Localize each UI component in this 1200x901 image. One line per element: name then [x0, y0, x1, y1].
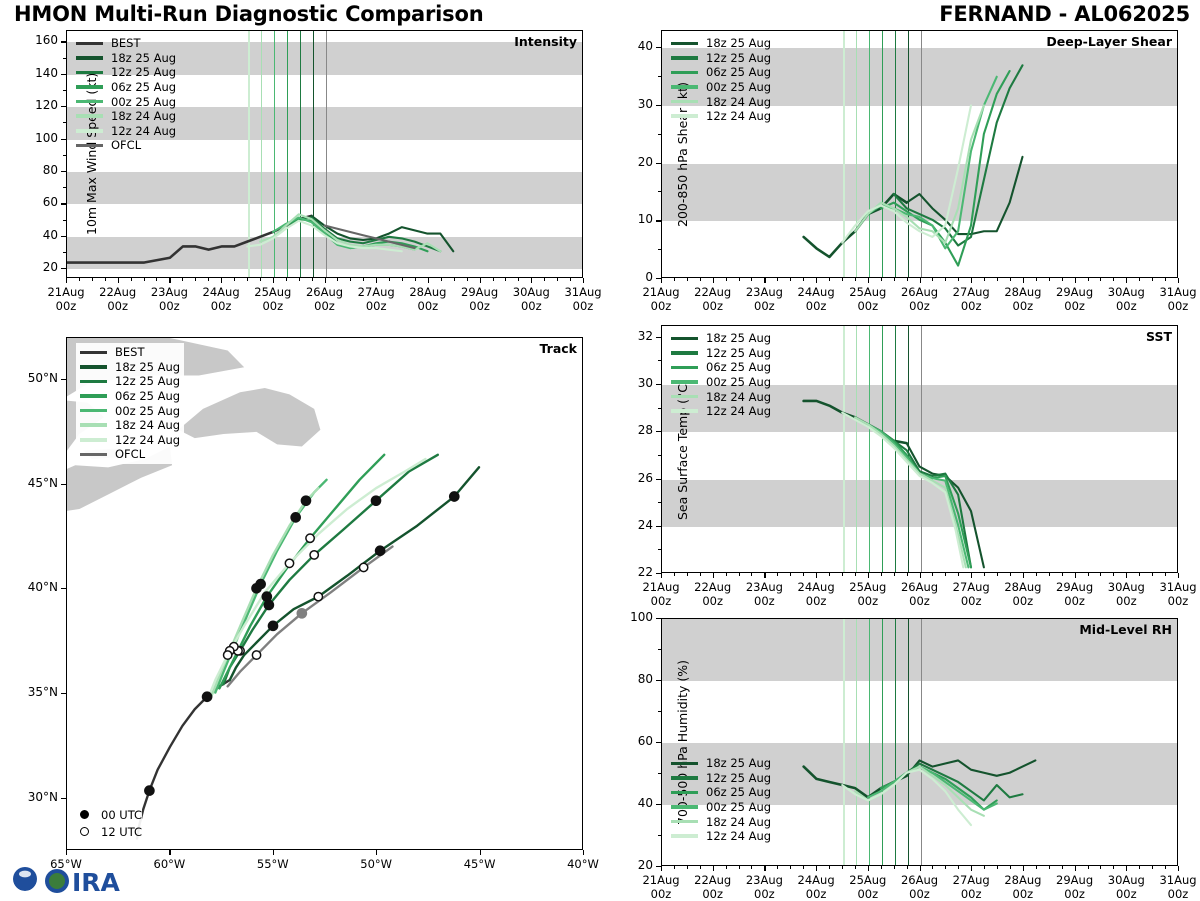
x-tick-mark: [325, 278, 326, 283]
legend-item[interactable]: 06z 25 Aug: [671, 65, 771, 80]
y-tick-label: 30: [609, 376, 653, 390]
y-tick-label: 30: [609, 97, 653, 111]
legend-label: 18z 25 Aug: [111, 51, 176, 65]
x-tick-label: 40°W: [551, 857, 615, 871]
x-tick-minor: [894, 573, 895, 576]
x-tick-minor: [945, 573, 946, 576]
x-tick-date: 28Aug: [1004, 873, 1041, 887]
y-tick-mark: [656, 163, 661, 164]
x-tick-minor: [855, 573, 856, 576]
x-tick-minor: [337, 278, 338, 281]
legend-item[interactable]: 12z 25 Aug: [671, 346, 771, 361]
x-tick-date: 27Aug: [953, 580, 990, 594]
x-tick-mark: [713, 866, 714, 871]
x-tick-hour: 00z: [909, 594, 930, 608]
y-tick-mark: [61, 379, 66, 380]
track-panel-title: Track: [540, 341, 577, 356]
x-tick-minor: [557, 278, 558, 281]
y-tick-label: 22: [609, 565, 653, 579]
x-tick-minor: [984, 278, 985, 281]
y-tick-mark: [61, 484, 66, 485]
legend-item[interactable]: 12z 24 Aug: [671, 109, 771, 124]
x-tick-mark: [661, 866, 662, 871]
track-marker-00utc: [301, 496, 310, 505]
x-tick-date: 23Aug: [151, 285, 188, 299]
y-tick-mark: [656, 220, 661, 221]
x-tick-minor: [687, 573, 688, 576]
x-tick-minor: [441, 278, 442, 281]
x-tick-minor: [907, 278, 908, 281]
x-tick-mark: [920, 278, 921, 283]
x-tick-minor: [1036, 866, 1037, 869]
x-tick-minor: [363, 278, 364, 281]
y-tick-mark: [61, 268, 66, 269]
x-tick-mark: [376, 278, 377, 283]
x-tick-date: 29Aug: [461, 285, 498, 299]
x-tick-minor: [415, 278, 416, 281]
x-tick-hour: 00z: [211, 299, 232, 313]
x-tick-minor: [1113, 866, 1114, 869]
x-tick-minor: [350, 278, 351, 281]
track-line: [137, 680, 230, 839]
x-tick-mark: [480, 850, 481, 855]
y-tick-minor: [63, 155, 66, 156]
x-tick-date: 25Aug: [849, 580, 886, 594]
x-tick-minor: [454, 278, 455, 281]
x-tick-mark: [713, 278, 714, 283]
series-line: [881, 431, 971, 567]
x-tick-minor: [1139, 573, 1140, 576]
series-line: [804, 401, 907, 443]
legend-color-swatch: [671, 100, 698, 104]
y-tick-minor: [658, 134, 661, 135]
y-tick-mark: [656, 618, 661, 619]
x-tick-date: 31Aug: [1159, 873, 1196, 887]
x-tick-minor: [131, 278, 132, 281]
x-tick-hour: 00z: [702, 887, 723, 901]
x-tick-minor: [829, 866, 830, 869]
legend-label: 12z 24 Aug: [706, 404, 771, 418]
x-tick-minor: [932, 278, 933, 281]
x-tick-mark: [868, 866, 869, 871]
x-tick-date: 24Aug: [798, 873, 835, 887]
legend-color-swatch: [671, 395, 698, 399]
legend-color-swatch: [76, 71, 103, 75]
legend-label: 06z 25 Aug: [111, 80, 176, 94]
y-tick-label: 160: [14, 33, 58, 47]
x-tick-hour: 00z: [909, 299, 930, 313]
legend-label: 00z 25 Aug: [111, 95, 176, 109]
x-tick-date: 26Aug: [306, 285, 343, 299]
x-tick-mark: [1178, 278, 1179, 283]
legend-color-swatch: [671, 791, 698, 795]
legend-item[interactable]: 18z 24 Aug: [671, 389, 771, 404]
y-tick-label: 35°N: [8, 685, 58, 699]
x-tick-minor: [1088, 573, 1089, 576]
y-tick-mark: [61, 139, 66, 140]
legend-color-swatch: [671, 805, 698, 809]
x-tick-hour: 00z: [651, 594, 672, 608]
y-tick-minor: [658, 773, 661, 774]
legend-item[interactable]: 06z 25 Aug: [671, 360, 771, 375]
series-line: [907, 443, 984, 567]
legend-item[interactable]: BEST: [80, 345, 180, 360]
legend-color-swatch: [80, 409, 107, 413]
x-tick-minor: [881, 278, 882, 281]
legend-label: 18z 24 Aug: [706, 95, 771, 109]
x-tick-minor: [739, 573, 740, 576]
x-tick-minor: [1100, 278, 1101, 281]
legend-item[interactable]: 18z 25 Aug: [671, 331, 771, 346]
x-tick-minor: [1049, 573, 1050, 576]
x-tick-minor: [700, 278, 701, 281]
x-tick-mark: [1126, 278, 1127, 283]
panel-intensity: Intensity 10m Max Wind Speed (kt) BEST18…: [66, 30, 583, 278]
legend-item[interactable]: 12z 24 Aug: [80, 433, 180, 448]
x-tick-minor: [687, 278, 688, 281]
x-tick-mark: [1023, 573, 1024, 578]
x-tick-mark: [661, 278, 662, 283]
y-tick-minor: [658, 649, 661, 650]
x-tick-hour: 00z: [702, 594, 723, 608]
x-tick-mark: [1075, 278, 1076, 283]
track-marker-00utc: [450, 492, 459, 501]
x-tick-hour: 00z: [314, 299, 335, 313]
page-title-left: HMON Multi-Run Diagnostic Comparison: [14, 2, 483, 26]
x-tick-hour: 00z: [366, 299, 387, 313]
marker-12utc-icon: [80, 827, 89, 836]
y-tick-label: 40: [609, 796, 653, 810]
x-tick-hour: 00z: [1013, 887, 1034, 901]
legend-color-swatch: [80, 365, 107, 369]
legend-item[interactable]: 00z 25 Aug: [76, 94, 176, 109]
series-line: [881, 71, 1010, 266]
x-tick-date: 25Aug: [849, 285, 886, 299]
x-tick-hour: 00z: [1013, 299, 1034, 313]
x-tick-minor: [907, 573, 908, 576]
track-marker-00utc: [291, 513, 300, 522]
legend-item[interactable]: 12z 25 Aug: [80, 374, 180, 389]
track-marker-00utc: [262, 592, 271, 601]
legend-color-swatch: [671, 56, 698, 60]
x-tick-minor: [570, 278, 571, 281]
x-tick-hour: 00z: [418, 299, 439, 313]
x-tick-hour: 00z: [961, 887, 982, 901]
x-tick-minor: [182, 278, 183, 281]
x-tick-minor: [156, 278, 157, 281]
x-tick-label: 31Aug00z: [1146, 873, 1200, 901]
legend-item[interactable]: 06z 25 Aug: [671, 785, 771, 800]
legend-label: BEST: [111, 36, 140, 50]
x-tick-minor: [842, 573, 843, 576]
x-tick-minor: [234, 278, 235, 281]
x-tick-mark: [868, 573, 869, 578]
y-tick-minor: [658, 76, 661, 77]
marker-legend-label: 00 UTC: [101, 808, 142, 822]
legend-item[interactable]: OFCL: [80, 447, 180, 462]
x-tick-hour: 00z: [521, 299, 542, 313]
legend-item[interactable]: 18z 25 Aug: [76, 51, 176, 66]
x-tick-minor: [144, 278, 145, 281]
legend-label: 18z 24 Aug: [706, 390, 771, 404]
x-tick-minor: [389, 278, 390, 281]
legend-color-swatch: [76, 129, 103, 133]
y-tick-minor: [658, 549, 661, 550]
x-tick-hour: 00z: [1116, 299, 1137, 313]
x-tick-minor: [907, 866, 908, 869]
x-tick-minor: [803, 278, 804, 281]
x-tick-mark: [661, 573, 662, 578]
x-tick-mark: [764, 278, 765, 283]
x-tick-minor: [299, 278, 300, 281]
y-tick-mark: [656, 742, 661, 743]
y-tick-label: 32: [609, 329, 653, 343]
x-tick-minor: [997, 278, 998, 281]
y-tick-label: 24: [609, 518, 653, 532]
legend-color-swatch: [80, 423, 107, 427]
marker-legend-item: 12 UTC: [76, 823, 142, 840]
series-line: [804, 767, 907, 798]
x-tick-minor: [1100, 573, 1101, 576]
x-tick-date: 25Aug: [849, 873, 886, 887]
x-tick-mark: [480, 278, 481, 283]
x-tick-date: 27Aug: [358, 285, 395, 299]
x-tick-hour: 00z: [857, 299, 878, 313]
x-tick-hour: 00z: [961, 299, 982, 313]
x-tick-minor: [402, 278, 403, 281]
x-tick-hour: 00z: [857, 887, 878, 901]
track-marker-12utc: [223, 651, 231, 659]
y-tick-mark: [61, 588, 66, 589]
x-tick-date: 23Aug: [746, 873, 783, 887]
y-tick-mark: [656, 105, 661, 106]
legend-item[interactable]: BEST: [76, 36, 176, 51]
y-tick-mark: [656, 526, 661, 527]
legend-item[interactable]: 12z 25 Aug: [76, 65, 176, 80]
x-tick-minor: [286, 278, 287, 281]
x-tick-minor: [751, 866, 752, 869]
series-line: [855, 105, 984, 242]
legend-item[interactable]: 00z 25 Aug: [80, 403, 180, 418]
y-tick-label: 45°N: [8, 476, 58, 490]
legend-item[interactable]: 06z 25 Aug: [76, 80, 176, 95]
x-tick-hour: 00z: [754, 887, 775, 901]
legend-item[interactable]: 12z 24 Aug: [671, 404, 771, 419]
x-tick-minor: [195, 278, 196, 281]
x-tick-label: 31Aug00z: [1146, 580, 1200, 608]
legend-label: 06z 25 Aug: [115, 389, 180, 403]
legend-color-swatch: [76, 100, 103, 104]
panel-shear: Deep-Layer Shear 200-850 hPa Shear (kt) …: [661, 30, 1178, 278]
x-tick-mark: [816, 866, 817, 871]
x-tick-minor: [1010, 573, 1011, 576]
legend-label: 18z 25 Aug: [115, 360, 180, 374]
x-tick-minor: [726, 573, 727, 576]
x-tick-mark: [583, 278, 584, 283]
x-tick-minor: [945, 278, 946, 281]
x-tick-minor: [493, 278, 494, 281]
legend-item[interactable]: 12z 24 Aug: [671, 829, 771, 844]
legend-color-swatch: [671, 762, 698, 766]
x-tick-minor: [777, 866, 778, 869]
x-tick-minor: [1139, 278, 1140, 281]
x-tick-date: 28Aug: [409, 285, 446, 299]
x-tick-minor: [790, 573, 791, 576]
x-tick-minor: [958, 573, 959, 576]
x-tick-date: 22Aug: [99, 285, 136, 299]
x-tick-mark: [118, 278, 119, 283]
y-tick-minor: [63, 90, 66, 91]
x-tick-mark: [816, 278, 817, 283]
x-tick-mark: [273, 850, 274, 855]
x-tick-minor: [842, 866, 843, 869]
x-tick-minor: [855, 278, 856, 281]
x-tick-hour: 00z: [1013, 594, 1034, 608]
legend-item[interactable]: 12z 25 Aug: [671, 771, 771, 786]
x-tick-mark: [971, 573, 972, 578]
x-tick-minor: [674, 866, 675, 869]
track-line: [207, 459, 425, 701]
legend-item[interactable]: 18z 24 Aug: [671, 814, 771, 829]
legend-item[interactable]: 18z 25 Aug: [80, 360, 180, 375]
x-tick-mark: [1075, 573, 1076, 578]
x-tick-minor: [1139, 866, 1140, 869]
series-line: [868, 424, 968, 567]
x-tick-minor: [700, 866, 701, 869]
x-tick-minor: [105, 278, 106, 281]
legend-color-swatch: [76, 56, 103, 60]
x-tick-minor: [1062, 573, 1063, 576]
legend-color-swatch: [76, 85, 103, 89]
legend-item[interactable]: 12z 24 Aug: [76, 124, 176, 139]
x-tick-minor: [1152, 866, 1153, 869]
legend-label: OFCL: [115, 447, 145, 461]
x-tick-hour: 00z: [806, 594, 827, 608]
sst-legend: 18z 25 Aug12z 25 Aug06z 25 Aug00z 25 Aug…: [671, 331, 771, 419]
legend-label: 12z 24 Aug: [706, 109, 771, 123]
x-tick-hour: 00z: [1064, 594, 1085, 608]
x-tick-hour: 00z: [469, 299, 490, 313]
x-tick-minor: [1062, 278, 1063, 281]
x-tick-date: 30Aug: [1108, 873, 1145, 887]
x-tick-date: 30Aug: [1108, 285, 1145, 299]
y-tick-label: 140: [14, 66, 58, 80]
y-tick-label: 30°N: [8, 790, 58, 804]
x-tick-minor: [777, 573, 778, 576]
x-tick-mark: [1126, 573, 1127, 578]
x-tick-hour: 00z: [857, 594, 878, 608]
x-tick-hour: 00z: [961, 594, 982, 608]
legend-label: 18z 25 Aug: [706, 331, 771, 345]
legend-color-swatch: [671, 380, 698, 384]
x-tick-date: 23Aug: [746, 285, 783, 299]
legend-color-swatch: [671, 409, 698, 413]
y-tick-mark: [61, 106, 66, 107]
legend-item[interactable]: 18z 25 Aug: [671, 756, 771, 771]
x-tick-mark: [169, 278, 170, 283]
legend-item[interactable]: 00z 25 Aug: [671, 80, 771, 95]
x-tick-date: 21Aug: [642, 285, 679, 299]
legend-item[interactable]: 18z 25 Aug: [671, 36, 771, 51]
track-marker-12utc: [314, 592, 322, 600]
legend-color-swatch: [671, 42, 698, 46]
x-tick-hour: 00z: [651, 299, 672, 313]
x-tick-date: 26Aug: [901, 873, 938, 887]
track-marker-legend: 00 UTC12 UTC: [76, 806, 142, 840]
x-tick-hour: 00z: [1168, 299, 1189, 313]
x-tick-hour: 00z: [56, 299, 77, 313]
legend-color-swatch: [671, 776, 698, 780]
legend-label: 00z 25 Aug: [706, 800, 771, 814]
x-tick-date: 27Aug: [953, 285, 990, 299]
y-tick-label: 50°N: [8, 371, 58, 385]
track-marker-00utc: [202, 692, 211, 701]
legend-label: 18z 24 Aug: [115, 418, 180, 432]
series-line: [67, 216, 312, 263]
legend-item[interactable]: 00z 25 Aug: [671, 375, 771, 390]
x-tick-mark: [1023, 278, 1024, 283]
x-tick-minor: [79, 278, 80, 281]
legend-item[interactable]: 18z 24 Aug: [80, 418, 180, 433]
y-tick-minor: [63, 252, 66, 253]
x-tick-hour: 00z: [107, 299, 128, 313]
y-tick-mark: [656, 680, 661, 681]
x-tick-date: 27Aug: [953, 873, 990, 887]
x-tick-minor: [1010, 278, 1011, 281]
x-tick-date: 30Aug: [1108, 580, 1145, 594]
x-tick-date: 25Aug: [254, 285, 291, 299]
x-tick-minor: [739, 278, 740, 281]
x-tick-mark: [1075, 866, 1076, 871]
y-tick-label: 100: [609, 610, 653, 624]
x-tick-mark: [971, 866, 972, 871]
legend-item[interactable]: 06z 25 Aug: [80, 389, 180, 404]
x-tick-minor: [726, 866, 727, 869]
x-tick-hour: 00z: [806, 299, 827, 313]
legend-color-swatch: [671, 820, 698, 824]
x-tick-hour: 00z: [909, 887, 930, 901]
legend-label: 18z 24 Aug: [111, 109, 176, 123]
track-marker-00utc: [376, 546, 385, 555]
x-tick-label: 55°W: [241, 857, 305, 871]
track-marker-12utc: [310, 551, 318, 559]
legend-item[interactable]: 12z 25 Aug: [671, 51, 771, 66]
x-tick-label: 31Aug00z: [551, 285, 615, 313]
legend-item[interactable]: 18z 24 Aug: [76, 109, 176, 124]
y-tick-label: 26: [609, 471, 653, 485]
legend-label: 18z 25 Aug: [706, 756, 771, 770]
legend-color-swatch: [671, 834, 698, 838]
y-tick-label: 120: [14, 98, 58, 112]
legend-color-swatch: [76, 114, 103, 118]
x-tick-mark: [66, 850, 67, 855]
y-tick-label: 20: [609, 858, 653, 872]
legend-item[interactable]: 18z 24 Aug: [671, 94, 771, 109]
x-tick-minor: [505, 278, 506, 281]
x-tick-date: 31Aug: [1159, 285, 1196, 299]
x-tick-mark: [1178, 866, 1179, 871]
legend-color-swatch: [76, 42, 103, 46]
x-tick-minor: [790, 278, 791, 281]
legend-item[interactable]: OFCL: [76, 138, 176, 153]
x-tick-label: 31Aug00z: [1146, 285, 1200, 313]
x-tick-date: 29Aug: [1056, 873, 1093, 887]
y-tick-mark: [61, 74, 66, 75]
y-tick-minor: [658, 835, 661, 836]
x-tick-minor: [518, 278, 519, 281]
x-tick-date: 28Aug: [1004, 285, 1041, 299]
legend-item[interactable]: 00z 25 Aug: [671, 800, 771, 815]
